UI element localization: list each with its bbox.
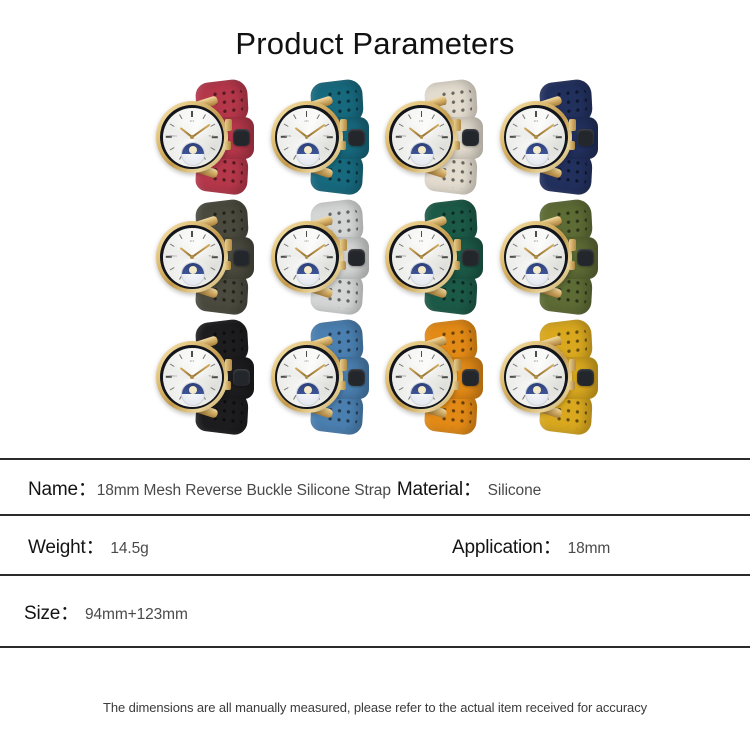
dial-brand-text: •••	[534, 239, 538, 243]
watch-dial: ••• MON TUE	[163, 108, 222, 167]
moon-phase-subdial	[410, 142, 434, 166]
watch-case: ••• MON TUE	[156, 341, 228, 413]
watch-bezel: ••• MON TUE	[389, 345, 453, 409]
hand-pivot	[534, 375, 537, 378]
dial-right-marker: TUE	[209, 134, 215, 138]
watch-case: ••• MON TUE	[271, 221, 343, 293]
watch-dial: ••• MON TUE	[506, 228, 565, 287]
moon-phase-subdial	[296, 382, 320, 406]
pusher-icon	[454, 261, 460, 270]
crown-icon	[340, 119, 347, 131]
watch-bezel: ••• MON TUE	[160, 225, 224, 289]
moon-phase-subdial	[181, 142, 205, 166]
pusher-icon	[569, 261, 575, 270]
dial-brand-text: •••	[534, 359, 538, 363]
hand-pivot	[420, 375, 423, 378]
watch-case: ••• MON TUE	[500, 341, 572, 413]
size-label: Size：	[24, 598, 79, 625]
watch-case: ••• MON TUE	[156, 221, 228, 293]
watch-case: ••• MON TUE	[156, 101, 228, 173]
buckle-puck	[462, 369, 479, 386]
watch-dial: ••• MON TUE	[392, 108, 451, 167]
weight-label: Weight：	[28, 532, 104, 559]
material-label: Material：	[397, 474, 482, 501]
application-value: 18mm	[562, 540, 611, 558]
watch-bezel: ••• MON TUE	[504, 105, 568, 169]
moon-phase-subdial	[296, 262, 320, 286]
watch-swatch[interactable]: ••• MON TUE	[267, 79, 371, 195]
dial-left-marker: MON	[170, 134, 177, 138]
dial-left-marker: MON	[513, 374, 520, 378]
watch-swatch[interactable]: ••• MON TUE	[152, 199, 256, 315]
dial-brand-text: •••	[190, 359, 194, 363]
watch-bezel: ••• MON TUE	[160, 345, 224, 409]
dial-brand-text: •••	[534, 119, 538, 123]
spec-cell-name: Name： 18mm Mesh Reverse Buckle Silicone …	[0, 474, 391, 501]
spec-row-weight: Weight： 14.5g Application： 18mm	[0, 516, 750, 574]
hand-pivot	[420, 255, 423, 258]
crown-icon	[569, 239, 576, 251]
moon-phase-subdial	[181, 262, 205, 286]
hand-pivot	[420, 135, 423, 138]
moon-phase-subdial	[181, 382, 205, 406]
watch-bezel: ••• MON TUE	[389, 105, 453, 169]
buckle-puck	[233, 129, 250, 146]
dial-right-marker: TUE	[323, 134, 329, 138]
watch-case: ••• MON TUE	[271, 101, 343, 173]
gallery-row: ••• MON TUE	[152, 79, 600, 195]
dial-right-marker: TUE	[438, 134, 444, 138]
watch-case: ••• MON TUE	[385, 101, 457, 173]
buckle-puck	[233, 369, 250, 386]
pusher-icon	[225, 261, 231, 270]
crown-icon	[454, 119, 461, 131]
name-value: 18mm Mesh Reverse Buckle Silicone Strap	[97, 482, 391, 500]
watch-bezel: ••• MON TUE	[275, 225, 339, 289]
dial-left-marker: MON	[170, 254, 177, 258]
watch-swatch[interactable]: ••• MON TUE	[152, 319, 256, 435]
dial-right-marker: TUE	[438, 254, 444, 258]
buckle-puck	[233, 249, 250, 266]
dial-right-marker: TUE	[552, 374, 558, 378]
dial-left-marker: MON	[284, 134, 291, 138]
spec-table: Name： 18mm Mesh Reverse Buckle Silicone …	[0, 458, 750, 648]
dial-right-marker: TUE	[209, 254, 215, 258]
spec-cell-size: Size： 94mm+123mm	[0, 598, 188, 625]
crown-icon	[225, 359, 232, 371]
hand-pivot	[190, 255, 193, 258]
watch-bezel: ••• MON TUE	[389, 225, 453, 289]
dial-right-marker: TUE	[323, 374, 329, 378]
crown-icon	[454, 239, 461, 251]
watch-swatch[interactable]: ••• MON TUE	[381, 79, 485, 195]
watch-dial: ••• MON TUE	[163, 228, 222, 287]
moon-phase-subdial	[296, 142, 320, 166]
watch-bezel: ••• MON TUE	[275, 105, 339, 169]
pusher-icon	[569, 381, 575, 390]
spec-cell-application: Application： 18mm	[452, 532, 610, 559]
dial-brand-text: •••	[419, 359, 423, 363]
page-title: Product Parameters	[0, 0, 750, 59]
watch-dial: ••• MON TUE	[392, 228, 451, 287]
watch-dial: ••• MON TUE	[163, 348, 222, 407]
crown-icon	[454, 359, 461, 371]
moon-phase-subdial	[525, 382, 549, 406]
pusher-icon	[225, 381, 231, 390]
dial-right-marker: TUE	[323, 254, 329, 258]
watch-case: ••• MON TUE	[500, 221, 572, 293]
dial-left-marker: MON	[399, 134, 406, 138]
pusher-icon	[454, 381, 460, 390]
hand-pivot	[534, 135, 537, 138]
watch-swatch[interactable]: ••• MON TUE	[267, 199, 371, 315]
dial-brand-text: •••	[304, 359, 308, 363]
hand-pivot	[190, 135, 193, 138]
name-label: Name：	[28, 474, 97, 501]
dial-brand-text: •••	[419, 239, 423, 243]
spec-row-size: Size： 94mm+123mm	[0, 576, 750, 646]
dial-brand-text: •••	[419, 119, 423, 123]
spec-cell-material: Material： Silicone	[391, 474, 541, 501]
dial-brand-text: •••	[304, 119, 308, 123]
watch-dial: ••• MON TUE	[392, 348, 451, 407]
watch-bezel: ••• MON TUE	[160, 105, 224, 169]
dial-left-marker: MON	[399, 254, 406, 258]
dial-left-marker: MON	[513, 254, 520, 258]
moon-phase-subdial	[410, 262, 434, 286]
dial-left-marker: MON	[170, 374, 177, 378]
application-label: Application：	[452, 532, 562, 559]
buckle-puck	[577, 129, 594, 146]
dial-left-marker: MON	[513, 134, 520, 138]
watch-dial: ••• MON TUE	[506, 108, 565, 167]
watch-bezel: ••• MON TUE	[504, 345, 568, 409]
spec-divider	[0, 646, 750, 648]
material-value: Silicone	[482, 482, 541, 500]
pusher-icon	[569, 141, 575, 150]
dial-left-marker: MON	[284, 254, 291, 258]
measurement-disclaimer: The dimensions are all manually measured…	[0, 700, 750, 715]
buckle-puck	[462, 249, 479, 266]
buckle-puck	[577, 369, 594, 386]
dial-brand-text: •••	[304, 239, 308, 243]
watch-swatch[interactable]: ••• MON TUE	[496, 79, 600, 195]
buckle-puck	[462, 129, 479, 146]
moon-phase-subdial	[410, 382, 434, 406]
dial-right-marker: TUE	[552, 254, 558, 258]
gallery-row: ••• MON TUE	[152, 199, 600, 315]
dial-right-marker: TUE	[552, 134, 558, 138]
crown-icon	[225, 239, 232, 251]
watch-bezel: ••• MON TUE	[275, 345, 339, 409]
spec-cell-weight: Weight： 14.5g	[0, 532, 149, 559]
crown-icon	[340, 359, 347, 371]
buckle-puck	[348, 249, 365, 266]
watch-bezel: ••• MON TUE	[504, 225, 568, 289]
watch-swatch[interactable]: ••• MON TUE	[496, 319, 600, 435]
dial-right-marker: TUE	[209, 374, 215, 378]
weight-value: 14.5g	[104, 540, 148, 558]
crown-icon	[569, 359, 576, 371]
size-value: 94mm+123mm	[79, 606, 188, 624]
pusher-icon	[340, 381, 346, 390]
watch-dial: ••• MON TUE	[277, 228, 336, 287]
watch-dial: ••• MON TUE	[277, 108, 336, 167]
hand-pivot	[190, 375, 193, 378]
dial-left-marker: MON	[284, 374, 291, 378]
watch-swatch[interactable]: ••• MON TUE	[152, 79, 256, 195]
moon-phase-subdial	[525, 262, 549, 286]
pusher-icon	[340, 261, 346, 270]
moon-phase-subdial	[525, 142, 549, 166]
watch-swatch[interactable]: ••• MON TUE	[381, 199, 485, 315]
pusher-icon	[340, 141, 346, 150]
spec-row-name: Name： 18mm Mesh Reverse Buckle Silicone …	[0, 460, 750, 514]
buckle-puck	[348, 129, 365, 146]
watch-swatch[interactable]: ••• MON TUE	[267, 319, 371, 435]
watch-color-gallery: ••• MON TUE	[0, 79, 750, 435]
crown-icon	[340, 239, 347, 251]
watch-case: ••• MON TUE	[385, 341, 457, 413]
pusher-icon	[454, 141, 460, 150]
dial-brand-text: •••	[190, 119, 194, 123]
watch-case: ••• MON TUE	[500, 101, 572, 173]
crown-icon	[225, 119, 232, 131]
gallery-row: ••• MON TUE	[152, 319, 600, 435]
buckle-puck	[348, 369, 365, 386]
watch-dial: ••• MON TUE	[506, 348, 565, 407]
dial-left-marker: MON	[399, 374, 406, 378]
watch-dial: ••• MON TUE	[277, 348, 336, 407]
watch-swatch[interactable]: ••• MON TUE	[496, 199, 600, 315]
watch-swatch[interactable]: ••• MON TUE	[381, 319, 485, 435]
pusher-icon	[225, 141, 231, 150]
hand-pivot	[534, 255, 537, 258]
dial-right-marker: TUE	[438, 374, 444, 378]
dial-brand-text: •••	[190, 239, 194, 243]
buckle-puck	[577, 249, 594, 266]
crown-icon	[569, 119, 576, 131]
watch-case: ••• MON TUE	[385, 221, 457, 293]
watch-case: ••• MON TUE	[271, 341, 343, 413]
